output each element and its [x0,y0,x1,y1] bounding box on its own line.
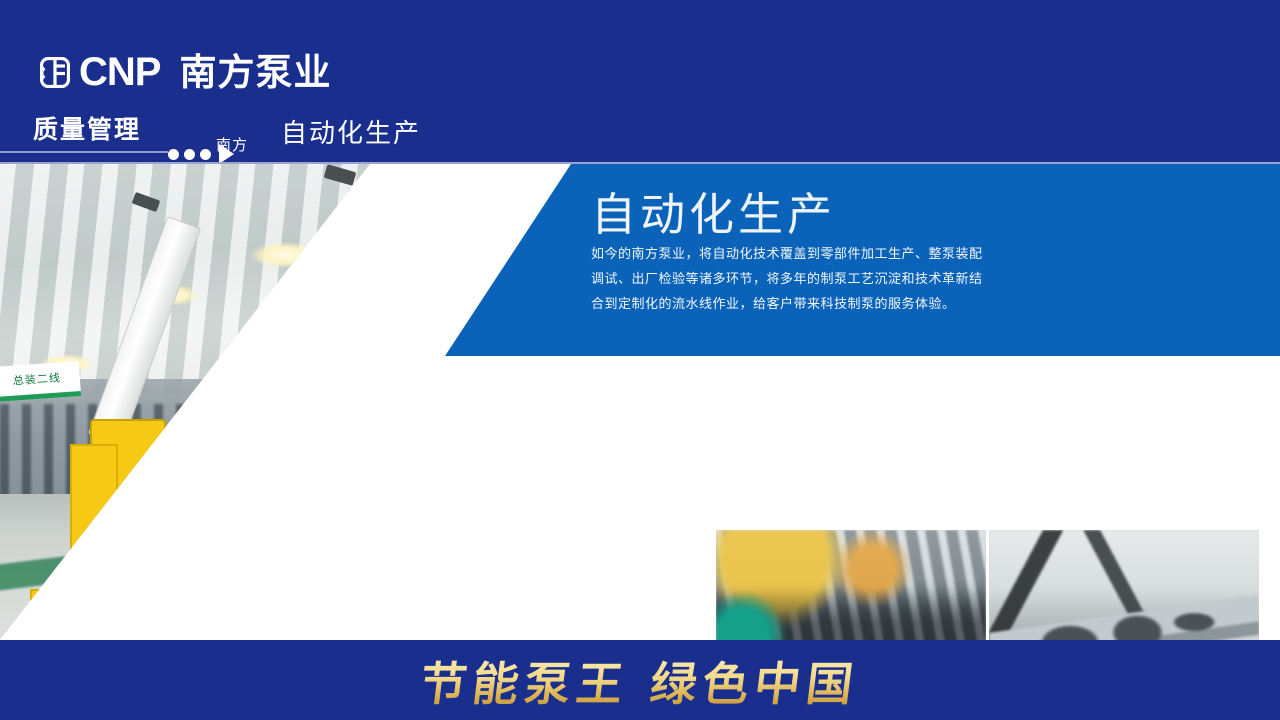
arm-column [265,394,325,640]
thumb-foreground-layer [716,530,986,640]
brand-abbr: CNP [79,52,160,92]
slide-body: 总装二线 自动化生产 [0,164,1280,640]
brand-name-cn: 南方泵业 [179,54,331,91]
footer-slogan: 节能泵王 绿色中国 [0,648,1280,714]
thumb-robot-arm-conveyor [988,529,1260,640]
section-label: 质量管理 [33,110,141,146]
arm-base [215,564,449,640]
slide-header: CNP 南方泵业 质量管理 南方 自动化生产 [0,0,1280,164]
brand-logo: CNP 南方泵业 [40,52,331,92]
dot-1 [168,149,179,160]
dot-2 [184,149,195,160]
body-line-2: 调试、出厂检验等诸多环节，将多年的制泵工艺沉淀和技术革新结 [591,267,983,292]
presentation-slide: CNP 南方泵业 质量管理 南方 自动化生产 [0,0,1280,720]
nav-divider-rule [0,151,168,153]
thumb-parts-layer [989,530,1259,640]
cnp-logo-mark-icon [40,57,70,88]
header-nav: 质量管理 [0,108,1280,164]
arm-cylinder [315,414,351,546]
tube-cap [132,192,161,212]
breadcrumb-company: 南方 [216,134,248,155]
breadcrumb-current-page: 自动化生产 [281,113,421,150]
body-line-3: 合到定制化的流水线作业，给客户带来科技制泵的服务体验。 [591,292,983,317]
thumb-component-machining-line [715,529,987,640]
body-paragraph: 如今的南方泵业，将自动化技术覆盖到零部件加工生产、整泵装配 调试、出厂检验等诸多… [591,242,983,317]
tube-cap [324,164,357,186]
body-line-1: 如今的南方泵业，将自动化技术覆盖到零部件加工生产、整泵装配 [591,242,983,267]
dot-3 [200,149,211,160]
page-title: 自动化生产 [591,178,836,243]
